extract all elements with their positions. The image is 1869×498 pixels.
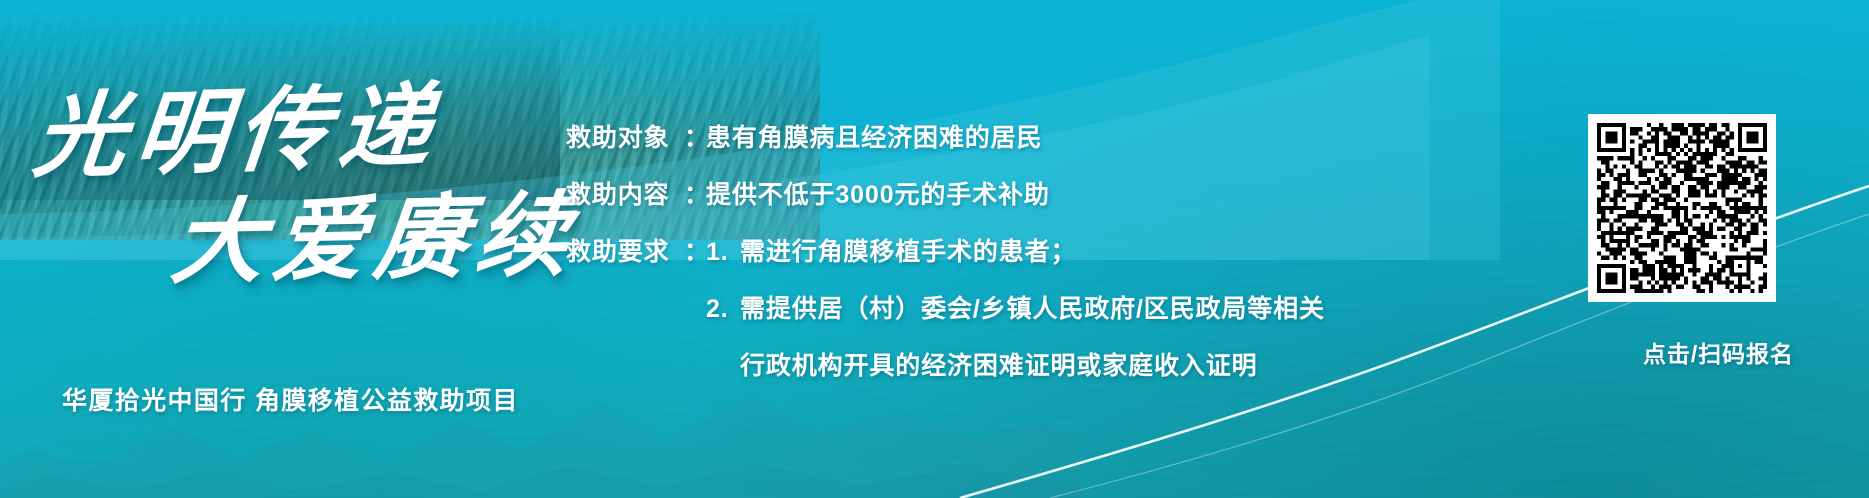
aid-detail-text: 需提供居（村）委会/乡镇人民政府/区民政局等相关 [740, 289, 1325, 325]
signup-cta-label[interactable]: 点击/扫码报名 [1643, 335, 1794, 369]
aid-detail-text: 需进行角膜移植手术的患者； [740, 232, 1076, 268]
aid-detail-number: 2. [706, 295, 740, 324]
program-subtitle: 华厦拾光中国行 角膜移植公益救助项目 [62, 381, 519, 417]
aid-detail-number: 1. [706, 238, 740, 267]
aid-detail-row: 救助内容 ： 提供不低于3000元的手术补助 [566, 175, 1326, 232]
aid-detail-label: 救助对象 [566, 118, 684, 154]
headline-line-2: 大爱赓续 [167, 189, 625, 290]
signup-qr-block[interactable] [1588, 114, 1776, 302]
aid-details-list: 救助对象 ： 患有角膜病且经济困难的居民 救助内容 ： 提供不低于3000元的手… [566, 118, 1326, 403]
qr-code-icon[interactable] [1588, 114, 1776, 302]
aid-detail-colon: ： [684, 118, 706, 154]
promo-banner: 光明传递 大爱赓续 华厦拾光中国行 角膜移植公益救助项目 救助对象 ： 患有角膜… [0, 0, 1869, 498]
aid-detail-row: 救助对象 ： 患有角膜病且经济困难的居民 [566, 118, 1326, 175]
aid-detail-text: 患有角膜病且经济困难的居民 [706, 118, 1042, 154]
aid-detail-text: 行政机构开具的经济困难证明或家庭收入证明 [740, 346, 1258, 382]
aid-detail-colon: ： [684, 232, 706, 268]
aid-detail-text: 提供不低于3000元的手术补助 [706, 175, 1050, 211]
aid-detail-row: 救助要求 ： 2. 需提供居（村）委会/乡镇人民政府/区民政局等相关 [566, 289, 1326, 346]
aid-detail-label: 救助要求 [566, 232, 684, 268]
aid-detail-colon: ： [684, 175, 706, 211]
aid-detail-label: 救助内容 [566, 175, 684, 211]
aid-detail-row: 救助要求 ： 1. 需进行角膜移植手术的患者； [566, 232, 1326, 289]
aid-detail-row: 救助要求 ： 2. 行政机构开具的经济困难证明或家庭收入证明 [566, 346, 1326, 403]
headline-line-1: 光明传递 [30, 76, 627, 184]
headline-block: 光明传递 大爱赓续 [0, 92, 620, 290]
